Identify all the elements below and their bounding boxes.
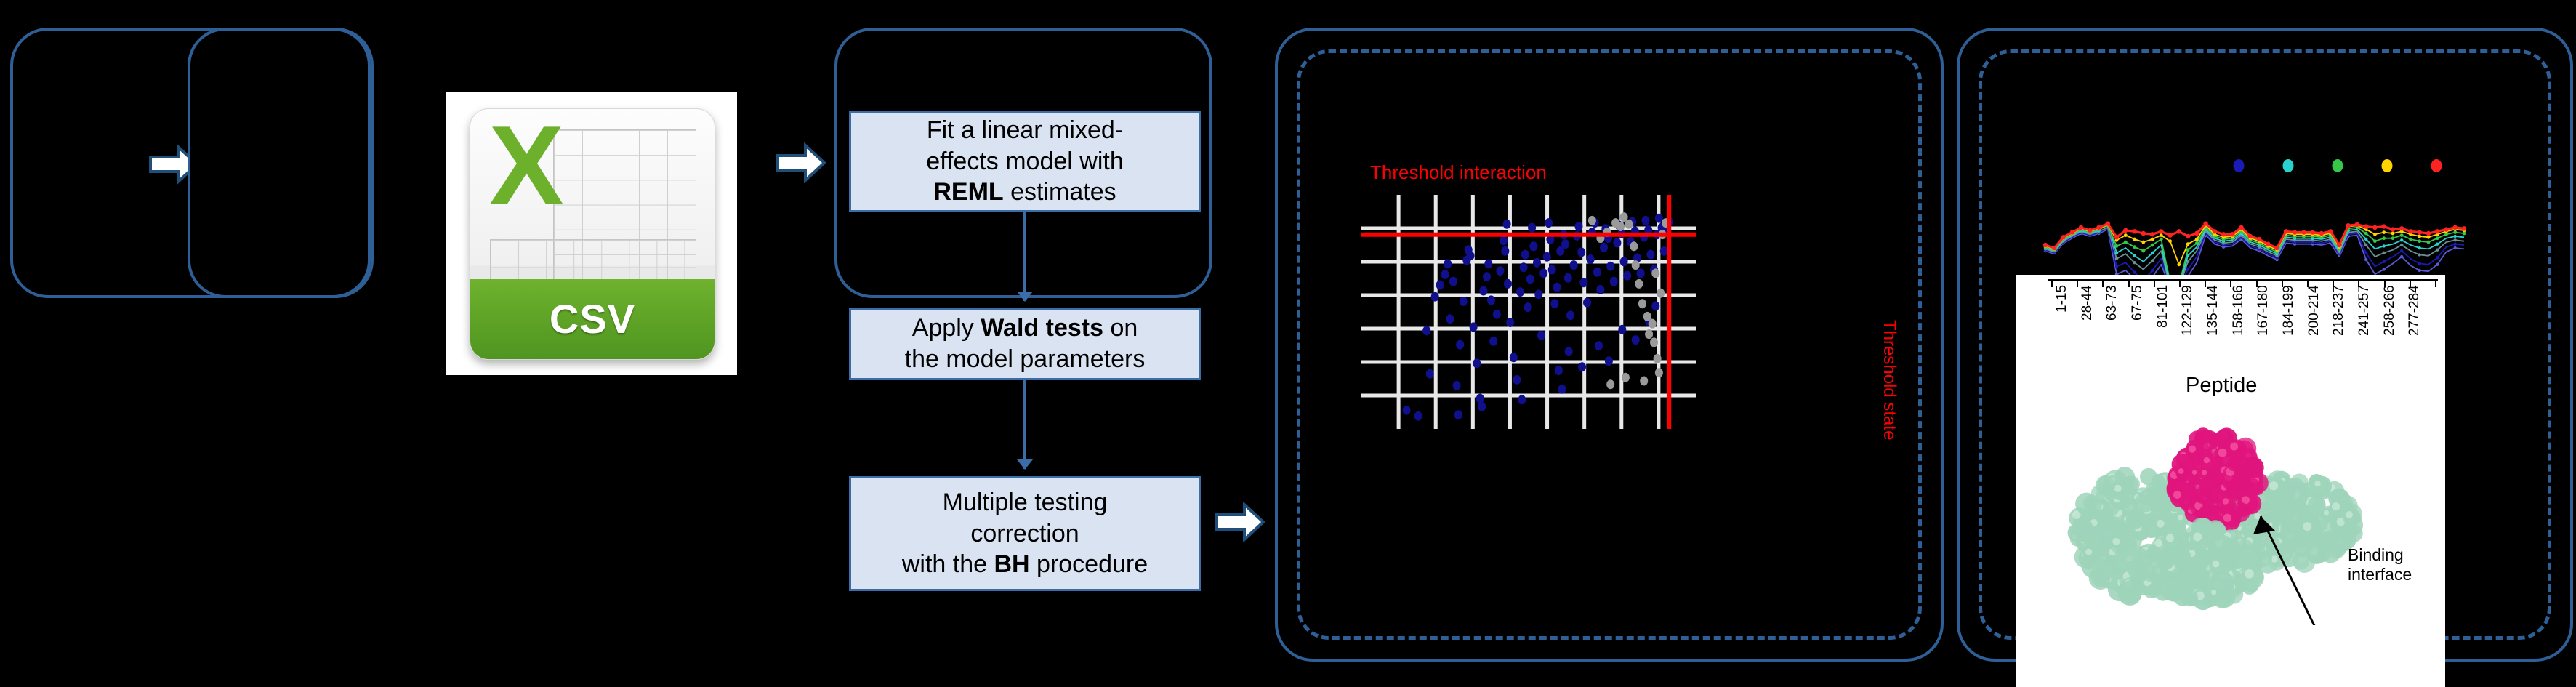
volcano-scatter-plot bbox=[1361, 195, 1696, 429]
csv-file-icon: X CSV bbox=[446, 92, 737, 375]
x-axis-tick bbox=[2358, 281, 2359, 287]
x-axis-tick bbox=[2410, 281, 2411, 287]
x-axis-tick bbox=[2179, 281, 2181, 287]
x-axis-tick bbox=[2256, 281, 2258, 287]
protein-surface-structure bbox=[2051, 407, 2399, 625]
bh-line2: correction bbox=[970, 520, 1079, 547]
x-axis-tick bbox=[2102, 281, 2104, 287]
data-panel bbox=[188, 28, 371, 298]
flow-diagram: X CSV Fit a linear mixed- effects model … bbox=[0, 0, 2576, 687]
peptide-tick-label: 135-144 bbox=[2205, 285, 2231, 366]
csv-caption-text: CSV bbox=[550, 295, 635, 342]
peptide-tick-label: 218-237 bbox=[2331, 285, 2356, 366]
peptide-tick-label: 241-257 bbox=[2356, 285, 2382, 366]
wald-line1-tail: on bbox=[1103, 314, 1138, 342]
bh-line3-tail: procedure bbox=[1030, 550, 1148, 578]
fit-model-step[interactable]: Fit a linear mixed- effects model with R… bbox=[849, 111, 1201, 212]
peptide-tick-label: 158-166 bbox=[2231, 285, 2256, 366]
binding-label-line2: interface bbox=[2348, 565, 2412, 584]
wald-tests-step[interactable]: Apply Wald tests on the model parameters bbox=[849, 308, 1201, 380]
peptide-axis-tick-labels: 1-1528-4463-7367-7581-101122-129135-1441… bbox=[2054, 285, 2432, 366]
x-axis-tick bbox=[2077, 281, 2078, 287]
x-axis-tick bbox=[2307, 281, 2309, 287]
binding-label-line1: Binding bbox=[2348, 545, 2412, 565]
wald-line1-head: Apply bbox=[912, 314, 981, 342]
fit-model-line2: effects model with bbox=[926, 148, 1124, 175]
x-axis-tick bbox=[2230, 281, 2231, 287]
arrow-stage3-to-stage4 bbox=[1215, 502, 1265, 542]
fit-model-line3-tail: estimates bbox=[1004, 178, 1116, 206]
peptide-tick-label: 167-180 bbox=[2255, 285, 2281, 366]
peptide-tick-label: 81-101 bbox=[2155, 285, 2181, 366]
csv-caption-band: CSV bbox=[470, 279, 715, 359]
peptide-tick-label: 122-129 bbox=[2180, 285, 2205, 366]
x-axis-tick bbox=[2282, 281, 2283, 287]
x-axis-tick bbox=[2128, 281, 2130, 287]
threshold-state-label: Threshold state bbox=[1879, 320, 1899, 440]
threshold-interaction-label: Threshold interaction bbox=[1370, 161, 1547, 184]
x-axis-tick bbox=[2435, 281, 2436, 287]
peptide-tick-label: 184-199 bbox=[2281, 285, 2306, 366]
peptide-tick-label: 1-15 bbox=[2054, 285, 2080, 366]
wald-line2: the model parameters bbox=[905, 345, 1146, 373]
csv-badge: X CSV bbox=[470, 108, 715, 359]
peptide-tick-label: 277-284 bbox=[2407, 285, 2432, 366]
x-axis-tick bbox=[2154, 281, 2155, 287]
x-axis-tick bbox=[2205, 281, 2206, 287]
peptide-uptake-line-chart bbox=[2021, 145, 2471, 291]
reml-keyword: REML bbox=[933, 178, 1003, 206]
x-axis-title: Peptide bbox=[2186, 374, 2257, 398]
peptide-tick-label: 200-214 bbox=[2306, 285, 2332, 366]
connector-wald-to-bh bbox=[1023, 380, 1026, 469]
peptide-tick-label: 67-75 bbox=[2130, 285, 2155, 366]
x-axis-tick bbox=[2051, 281, 2053, 287]
x-axis-line bbox=[2048, 279, 2438, 281]
binding-interface-label: Binding interface bbox=[2348, 545, 2412, 584]
excel-x-glyph: X bbox=[485, 114, 568, 234]
multiple-testing-step[interactable]: Multiple testing correction with the BH … bbox=[849, 476, 1201, 591]
peptide-tick-label: 258-266 bbox=[2382, 285, 2407, 366]
bh-keyword: BH bbox=[994, 550, 1029, 578]
x-axis-tick bbox=[2384, 281, 2386, 287]
fit-model-line1: Fit a linear mixed- bbox=[927, 116, 1123, 144]
bh-line3-head: with the bbox=[902, 550, 994, 578]
bh-line1: Multiple testing bbox=[943, 489, 1108, 516]
connector-fit-to-wald bbox=[1023, 212, 1026, 301]
x-axis-tick bbox=[2333, 281, 2334, 287]
arrow-stage2-to-stage3 bbox=[776, 142, 826, 183]
wald-keyword: Wald tests bbox=[981, 314, 1103, 342]
peptide-tick-label: 63-73 bbox=[2104, 285, 2130, 366]
results-figure-card: 0.0 1-1528-4463-7367-7581-101122-129135-… bbox=[2016, 275, 2445, 687]
peptide-tick-label: 28-44 bbox=[2080, 285, 2105, 366]
